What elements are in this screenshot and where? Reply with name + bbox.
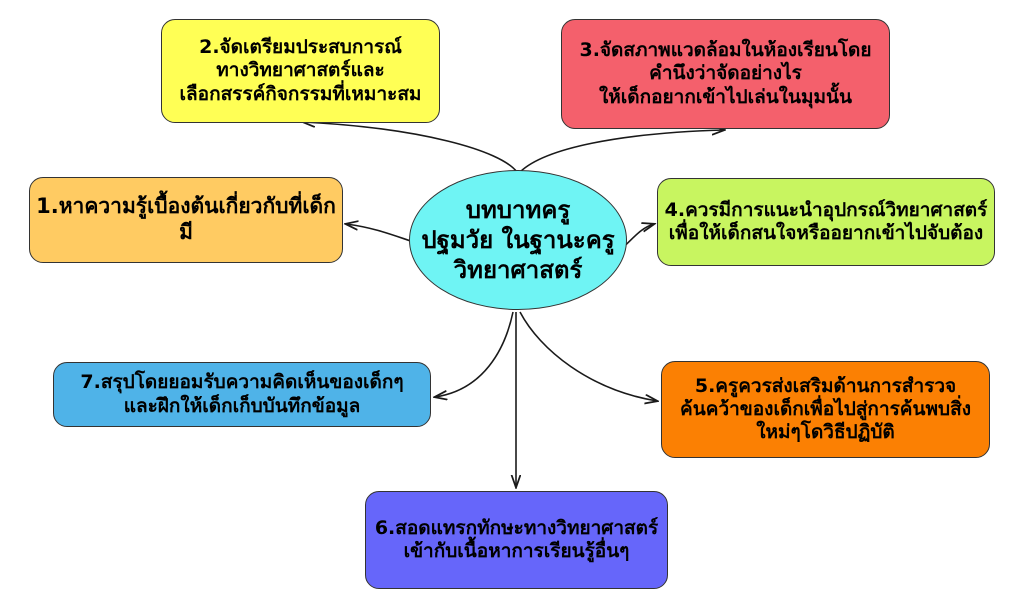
node-1[interactable]: 1.หาความรู้เบื้องต้นเกี่ยวกับที่เด็กมี (29, 177, 343, 263)
connector-center-to-node-2 (303, 122, 517, 172)
node-7[interactable]: 7.สรุปโดยยอมรับความคิดเห็นของเด็กๆ และฝึ… (53, 362, 431, 427)
connector-center-to-node-7 (435, 312, 513, 397)
node-5[interactable]: 5.ครูควรส่งเสริมด้านการสำรวจ ค้นคว้าของเ… (661, 361, 990, 458)
node-6[interactable]: 6.สอดแทรกทักษะทางวิทยาศาสตร์ เข้ากับเนื้… (365, 491, 668, 589)
node-4[interactable]: 4.ควรมีการแนะนำอุปกรณ์วิทยาศาสตร์ เพื่อใ… (657, 178, 995, 266)
connector-center-to-node-5 (520, 312, 657, 401)
mindmap-canvas: 1.หาความรู้เบื้องต้นเกี่ยวกับที่เด็กมี 2… (0, 0, 1024, 613)
node-3[interactable]: 3.จัดสภาพแวดล้อมในห้องเรียนโดย คำนึงว่าจ… (561, 19, 890, 129)
node-2[interactable]: 2.จัดเตรียมประสบการณ์ ทางวิทยาศาสตร์และ … (161, 19, 440, 123)
center-node[interactable]: บทบาทครู ปฐมวัย ในฐานะครู วิทยาศาสตร์ (409, 170, 627, 310)
connector-center-to-node-3 (520, 130, 724, 172)
